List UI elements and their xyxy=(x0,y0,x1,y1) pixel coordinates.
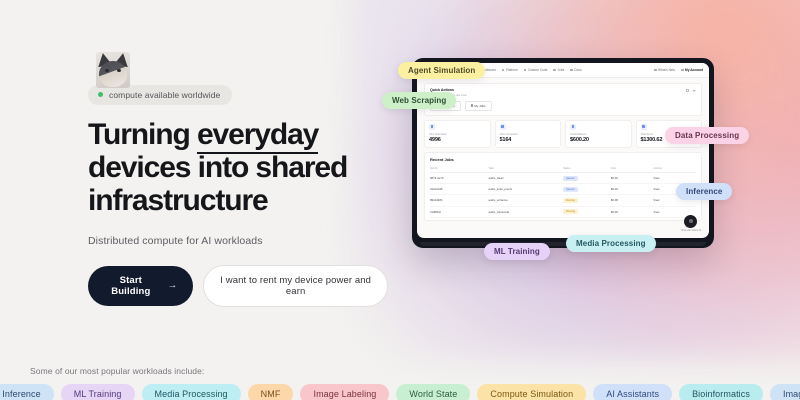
cell-task: audio_enhance xyxy=(489,195,563,206)
quick-actions-title: Quick Actions xyxy=(430,88,686,92)
nav-label: Platform xyxy=(506,68,518,72)
copy-icon[interactable] xyxy=(686,89,689,92)
cta-row: Start Building → I want to rent my devic… xyxy=(88,265,388,307)
my-jobs-button[interactable]: My Jobs xyxy=(465,101,492,111)
hero-section: compute available worldwide Turning ever… xyxy=(88,52,388,307)
stat-value: 4996 xyxy=(429,137,486,143)
tag-bioinformatics[interactable]: Bioinformatics xyxy=(679,384,763,400)
stat-card-jobs-submitted: Jobs Submitted 4996 xyxy=(424,120,491,149)
table-row[interactable]: 412e0e95 audio_scan_precis Queued $0.00 … xyxy=(430,184,696,195)
callout-data-processing: Data Processing xyxy=(665,127,749,144)
stat-card-jobs-completed: Jobs Completed 5164 xyxy=(495,120,562,149)
col-cost: Cost xyxy=(611,165,654,173)
tag-nmf[interactable]: NMF xyxy=(248,384,294,400)
table-row[interactable]: 9873-4e79 audio_clean Queued $0.00 View xyxy=(430,173,696,184)
headline-part-2: devices into shared infrastructure xyxy=(88,151,347,217)
cell-cost: $0.00 xyxy=(611,184,654,195)
nav-label: My Account xyxy=(685,68,703,72)
callout-inference: Inference xyxy=(676,183,732,200)
hero-subtitle: Distributed compute for AI workloads xyxy=(88,235,388,247)
rent-device-button[interactable]: I want to rent my device power and earn xyxy=(203,265,388,307)
code-icon xyxy=(524,69,527,72)
cell-job-id: c3df84df xyxy=(430,206,489,217)
headline-part-1: Turning xyxy=(88,118,197,151)
cell-task: audio_clean xyxy=(489,173,563,184)
col-job-id: Job ID xyxy=(430,165,489,173)
table-row[interactable]: 8912d48b audio_enhance Running $0.08 Vie… xyxy=(430,195,696,206)
table-row[interactable]: c3df84df audio_transcode Running $0.06 V… xyxy=(430,206,696,217)
workloads-caption: Some of our most popular workloads inclu… xyxy=(30,366,204,376)
nav-label: What's New xyxy=(658,68,675,72)
laptop-base xyxy=(420,242,706,246)
cell-cost: $0.08 xyxy=(611,195,654,206)
stat-value: 5164 xyxy=(500,137,557,143)
user-icon xyxy=(681,69,684,72)
credit-balance-icon xyxy=(570,124,576,130)
start-building-label: Start Building xyxy=(104,275,158,297)
cell-cost: $0.00 xyxy=(611,173,654,184)
callout-web-scraping: Web Scraping xyxy=(382,92,456,109)
tag-ai-inference[interactable]: AI Inference xyxy=(0,384,54,400)
tag-compute-simulation[interactable]: Compute Simulation xyxy=(477,384,586,400)
arrow-right-icon: → xyxy=(168,280,178,291)
chat-bubble-icon[interactable] xyxy=(684,215,697,228)
tag-ml-training[interactable]: ML Training xyxy=(61,384,135,400)
recent-jobs-card: Recent Jobs Job ID Task Status Cost Acti… xyxy=(424,152,702,221)
cell-status: Queued xyxy=(563,173,611,184)
chat-widget-label: Chat with Fabric AI xyxy=(681,229,701,232)
nav-label: Custom Code xyxy=(528,68,548,72)
nav-item-docs[interactable]: Docs xyxy=(570,68,581,72)
headline-underlined-word: everyday xyxy=(197,118,318,154)
cell-action[interactable]: View xyxy=(653,173,696,184)
status-badge: Running xyxy=(563,198,578,203)
nav-item-my-account[interactable]: My Account xyxy=(681,68,703,72)
stat-value: $600.20 xyxy=(570,137,627,143)
layers-icon xyxy=(502,69,505,72)
stat-card-credit-balance: Credit Balance $600.20 xyxy=(565,120,632,149)
dashboard-nav-right: What's New My Account xyxy=(654,68,703,72)
book-icon xyxy=(570,69,573,72)
cell-status: Running xyxy=(563,195,611,206)
nav-label: Docs xyxy=(574,68,581,72)
cell-job-id: 8912d48b xyxy=(430,195,489,206)
status-dot-icon xyxy=(98,92,103,97)
tag-image-preprocess[interactable]: Image Preprocess xyxy=(770,384,800,400)
sparkle-icon xyxy=(654,69,657,72)
cat-photo-icon xyxy=(96,52,130,88)
quick-actions-subtitle: Jump to the tasks you use most xyxy=(430,94,686,97)
nav-item-platform[interactable]: Platform xyxy=(502,68,518,72)
jobs-submitted-icon xyxy=(429,124,435,130)
cell-task: audio_scan_precis xyxy=(489,184,563,195)
callout-media-processing: Media Processing xyxy=(566,235,656,252)
tag-image-labeling[interactable]: Image Labeling xyxy=(300,384,389,400)
callout-agent-simulation: Agent Simulation xyxy=(398,62,485,79)
stat-label: Jobs Submitted xyxy=(429,133,486,136)
page-title: Turning everyday devices into shared inf… xyxy=(88,118,388,217)
tag-world-state[interactable]: World State xyxy=(396,384,470,400)
recent-jobs-table: Job ID Task Status Cost Actions 9873-4e7… xyxy=(430,165,696,218)
my-jobs-label: My Jobs xyxy=(474,104,485,108)
cell-task: audio_transcode xyxy=(489,206,563,217)
callout-ml-training: ML Training xyxy=(484,243,550,260)
workload-tag-row: AI Inference ML Training Media Processin… xyxy=(0,384,800,400)
cell-status: Queued xyxy=(563,184,611,195)
stat-label: Credit Balance xyxy=(570,133,627,136)
tag-ai-assistants[interactable]: AI Assistants xyxy=(593,384,672,400)
dashboard-nav-items: Dashboard Platform Custom Code Jobs Docs xyxy=(476,68,581,72)
cell-status: Running xyxy=(563,206,611,217)
col-status: Status xyxy=(563,165,611,173)
quick-actions-card: Quick Actions Jump to the tasks you use … xyxy=(424,83,702,116)
start-building-button[interactable]: Start Building → xyxy=(88,266,193,306)
stat-label: Jobs Completed xyxy=(500,133,557,136)
status-badge: Queued xyxy=(563,176,578,181)
folder-icon xyxy=(471,104,473,106)
tag-media-processing[interactable]: Media Processing xyxy=(142,384,241,400)
cell-job-id: 9873-4e79 xyxy=(430,173,489,184)
table-header-row: Job ID Task Status Cost Actions xyxy=(430,165,696,173)
total-spent-icon xyxy=(641,124,647,130)
stats-row: Jobs Submitted 4996 Jobs Completed 5164 … xyxy=(424,120,702,149)
laptop-mockup: Fabric A product of Fabric Labs Dashboar… xyxy=(412,58,714,248)
cell-job-id: 412e0e95 xyxy=(430,184,489,195)
col-actions: Actions xyxy=(653,165,696,173)
availability-badge-label: compute available worldwide xyxy=(109,90,220,100)
recent-jobs-title: Recent Jobs xyxy=(430,157,696,162)
landing-page: compute available worldwide Turning ever… xyxy=(0,0,800,400)
chevron-down-icon[interactable] xyxy=(692,90,696,92)
nav-item-custom-code[interactable]: Custom Code xyxy=(524,68,548,72)
dashboard-body: Quick Actions Jump to the tasks you use … xyxy=(417,78,709,226)
col-task: Task xyxy=(489,165,563,173)
cell-cost: $0.06 xyxy=(611,206,654,217)
dashboard-screen: Fabric A product of Fabric Labs Dashboar… xyxy=(417,63,709,238)
status-badge: Queued xyxy=(563,187,578,192)
nav-label: Jobs xyxy=(557,68,564,72)
chat-widget[interactable]: Chat with Fabric AI xyxy=(681,215,701,233)
nav-item-whats-new[interactable]: What's New xyxy=(654,68,675,72)
list-icon xyxy=(553,69,556,72)
status-badge: Running xyxy=(563,209,578,214)
jobs-completed-icon xyxy=(500,124,506,130)
nav-item-jobs[interactable]: Jobs xyxy=(553,68,564,72)
